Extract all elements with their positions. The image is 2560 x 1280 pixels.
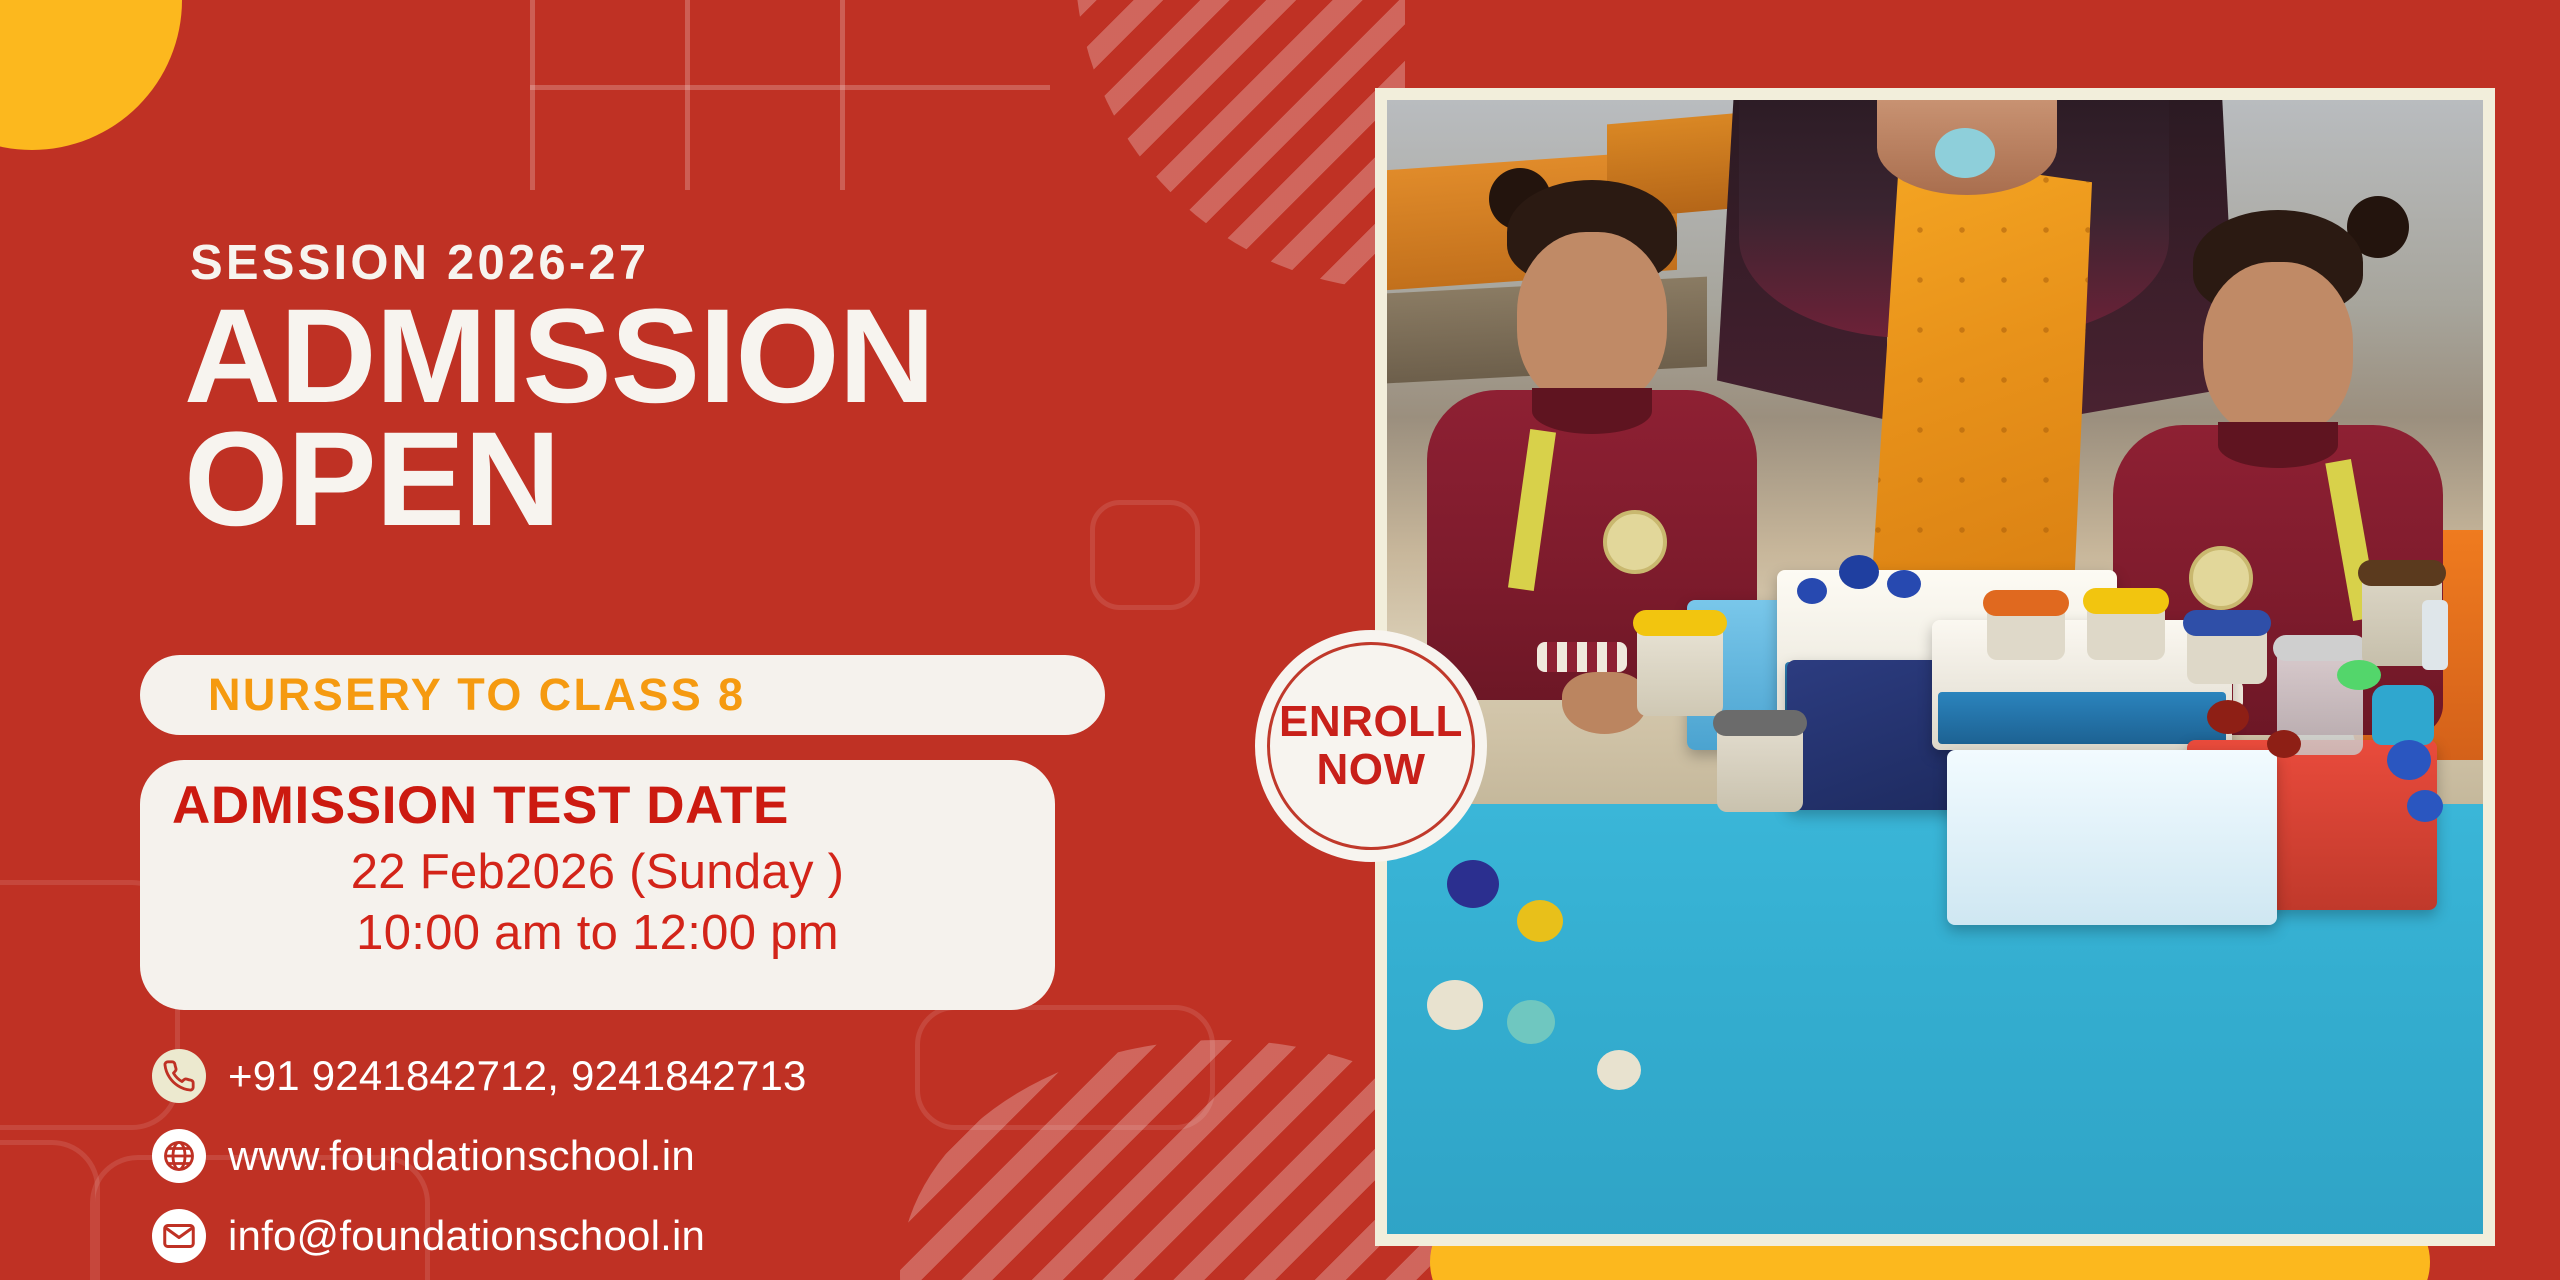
admission-test-time: 10:00 am to 12:00 pm [140, 903, 1055, 965]
page-title: ADMISSION OPEN [184, 295, 934, 542]
classroom-photo [1387, 100, 2483, 1234]
envelope-icon [152, 1209, 206, 1263]
classroom-photo-frame [1375, 88, 2495, 1246]
rounded-outline-decoration-2 [0, 1140, 100, 1280]
globe-icon [152, 1129, 206, 1183]
enroll-badge-line-1: ENROLL [1279, 698, 1463, 746]
contact-row-phone[interactable]: +91 9241842712, 9241842713 [152, 1040, 807, 1112]
classes-range-pill: NURSERY TO CLASS 8 [140, 655, 1105, 735]
admission-test-card: ADMISSION TEST DATE 22 Feb2026 (Sunday )… [140, 760, 1055, 1010]
admission-test-date: 22 Feb2026 (Sunday ) [140, 842, 1055, 904]
phone-icon [152, 1049, 206, 1103]
headline-line-2: OPEN [184, 418, 934, 541]
enroll-badge-line-2: NOW [1316, 746, 1425, 794]
contact-list: +91 9241842712, 9241842713 www.foundatio… [152, 1040, 807, 1280]
classes-range-label: NURSERY TO CLASS 8 [208, 669, 745, 721]
banner-content-column: SESSION 2026-27 ADMISSION OPEN NURSERY T… [140, 0, 1240, 1280]
contact-row-website[interactable]: www.foundationschool.in [152, 1120, 807, 1192]
contact-row-email[interactable]: info@foundationschool.in [152, 1200, 807, 1272]
contact-phone-text: +91 9241842712, 9241842713 [228, 1052, 807, 1100]
admission-banner: SESSION 2026-27 ADMISSION OPEN NURSERY T… [0, 0, 2560, 1280]
contact-website-text: www.foundationschool.in [228, 1132, 695, 1180]
contact-email-text: info@foundationschool.in [228, 1212, 705, 1260]
admission-test-title: ADMISSION TEST DATE [172, 774, 1055, 838]
enroll-now-badge[interactable]: ENROLL NOW [1255, 630, 1487, 862]
